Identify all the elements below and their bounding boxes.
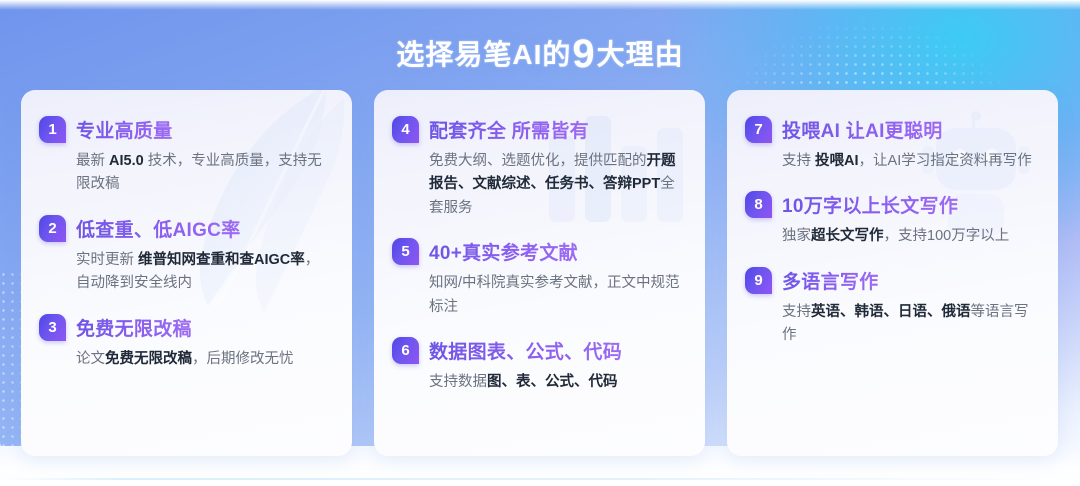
reason-description: 知网/中科院真实参考文献，正文中规范标注 bbox=[429, 272, 683, 319]
page-title-number: 9 bbox=[572, 32, 595, 76]
page-title-prefix: 选择易笔AI的 bbox=[396, 39, 571, 70]
reason-item-head: 3 免费无限改稿 bbox=[39, 314, 330, 341]
reason-description: 支持 投喂AI，让AI学习指定资料再写作 bbox=[782, 150, 1036, 173]
top-fade-decoration bbox=[0, 0, 1080, 10]
reason-number-badge: 8 bbox=[745, 191, 772, 218]
reasons-card-column-1: 1 专业高质量 最新 AI5.0 技术，专业高质量，支持无限改稿 2 低查重、低… bbox=[21, 90, 352, 456]
reason-title: 40+真实参考文献 bbox=[429, 238, 578, 265]
reason-title: 免费无限改稿 bbox=[76, 314, 192, 341]
page-title-suffix: 大理由 bbox=[597, 39, 684, 70]
reason-number-badge: 7 bbox=[745, 116, 772, 143]
reason-item-head: 2 低查重、低AIGC率 bbox=[39, 215, 330, 242]
reason-description: 独家超长文写作，支持100万字以上 bbox=[782, 225, 1036, 248]
reasons-card-column-2: 4 配套齐全 所需皆有 免费大纲、选题优化，提供匹配的开题报告、文献综述、任务书… bbox=[374, 90, 705, 456]
reason-item: 6 数据图表、公式、代码 支持数据图、表、公式、代码 bbox=[392, 337, 683, 394]
reason-title: 10万字以上长文写作 bbox=[782, 191, 958, 218]
reason-item-head: 7 投喂AI 让AI更聪明 bbox=[745, 116, 1036, 143]
reasons-card-column-3: 7 投喂AI 让AI更聪明 支持 投喂AI，让AI学习指定资料再写作 8 10万… bbox=[727, 90, 1058, 456]
reason-number-badge: 1 bbox=[39, 116, 66, 143]
reason-description: 支持数据图、表、公式、代码 bbox=[429, 371, 683, 394]
reason-item-head: 4 配套齐全 所需皆有 bbox=[392, 116, 683, 143]
reason-number-badge: 6 bbox=[392, 337, 419, 364]
reason-item-head: 6 数据图表、公式、代码 bbox=[392, 337, 683, 364]
reason-item-head: 5 40+真实参考文献 bbox=[392, 238, 683, 265]
reason-item: 7 投喂AI 让AI更聪明 支持 投喂AI，让AI学习指定资料再写作 bbox=[745, 116, 1036, 173]
reason-title: 数据图表、公式、代码 bbox=[429, 337, 622, 364]
reasons-card-grid: 1 专业高质量 最新 AI5.0 技术，专业高质量，支持无限改稿 2 低查重、低… bbox=[21, 90, 1059, 456]
reason-item: 1 专业高质量 最新 AI5.0 技术，专业高质量，支持无限改稿 bbox=[39, 116, 330, 197]
reason-description: 支持英语、韩语、日语、俄语等语言写作 bbox=[782, 301, 1036, 348]
reason-item: 4 配套齐全 所需皆有 免费大纲、选题优化，提供匹配的开题报告、文献综述、任务书… bbox=[392, 116, 683, 220]
reason-item: 3 免费无限改稿 论文免费无限改稿，后期修改无忧 bbox=[39, 314, 330, 371]
reason-description: 论文免费无限改稿，后期修改无忧 bbox=[76, 348, 330, 371]
reason-item: 5 40+真实参考文献 知网/中科院真实参考文献，正文中规范标注 bbox=[392, 238, 683, 319]
reason-description: 实时更新 维普知网查重和查AIGC率，自动降到安全线内 bbox=[76, 249, 330, 296]
reason-title: 投喂AI 让AI更聪明 bbox=[782, 116, 943, 143]
reason-number-badge: 2 bbox=[39, 215, 66, 242]
reason-number-badge: 9 bbox=[745, 267, 772, 294]
reason-item: 2 低查重、低AIGC率 实时更新 维普知网查重和查AIGC率，自动降到安全线内 bbox=[39, 215, 330, 296]
section-title-wrapper: 选择易笔AI的9大理由 bbox=[0, 34, 1080, 74]
reason-title: 专业高质量 bbox=[76, 116, 173, 143]
page-title: 选择易笔AI的9大理由 bbox=[396, 34, 683, 74]
reason-item-head: 8 10万字以上长文写作 bbox=[745, 191, 1036, 218]
reason-item-head: 1 专业高质量 bbox=[39, 116, 330, 143]
bottom-divider-line bbox=[0, 478, 1080, 480]
reason-item: 9 多语言写作 支持英语、韩语、日语、俄语等语言写作 bbox=[745, 267, 1036, 348]
reason-number-badge: 3 bbox=[39, 314, 66, 341]
reason-description: 免费大纲、选题优化，提供匹配的开题报告、文献综述、任务书、答辩PPT全套服务 bbox=[429, 150, 683, 220]
reason-title: 配套齐全 所需皆有 bbox=[429, 116, 589, 143]
reason-number-badge: 5 bbox=[392, 238, 419, 265]
reason-title: 低查重、低AIGC率 bbox=[76, 215, 241, 242]
reason-item: 8 10万字以上长文写作 独家超长文写作，支持100万字以上 bbox=[745, 191, 1036, 248]
reason-description: 最新 AI5.0 技术，专业高质量，支持无限改稿 bbox=[76, 150, 330, 197]
reason-title: 多语言写作 bbox=[782, 267, 879, 294]
reason-number-badge: 4 bbox=[392, 116, 419, 143]
reason-item-head: 9 多语言写作 bbox=[745, 267, 1036, 294]
